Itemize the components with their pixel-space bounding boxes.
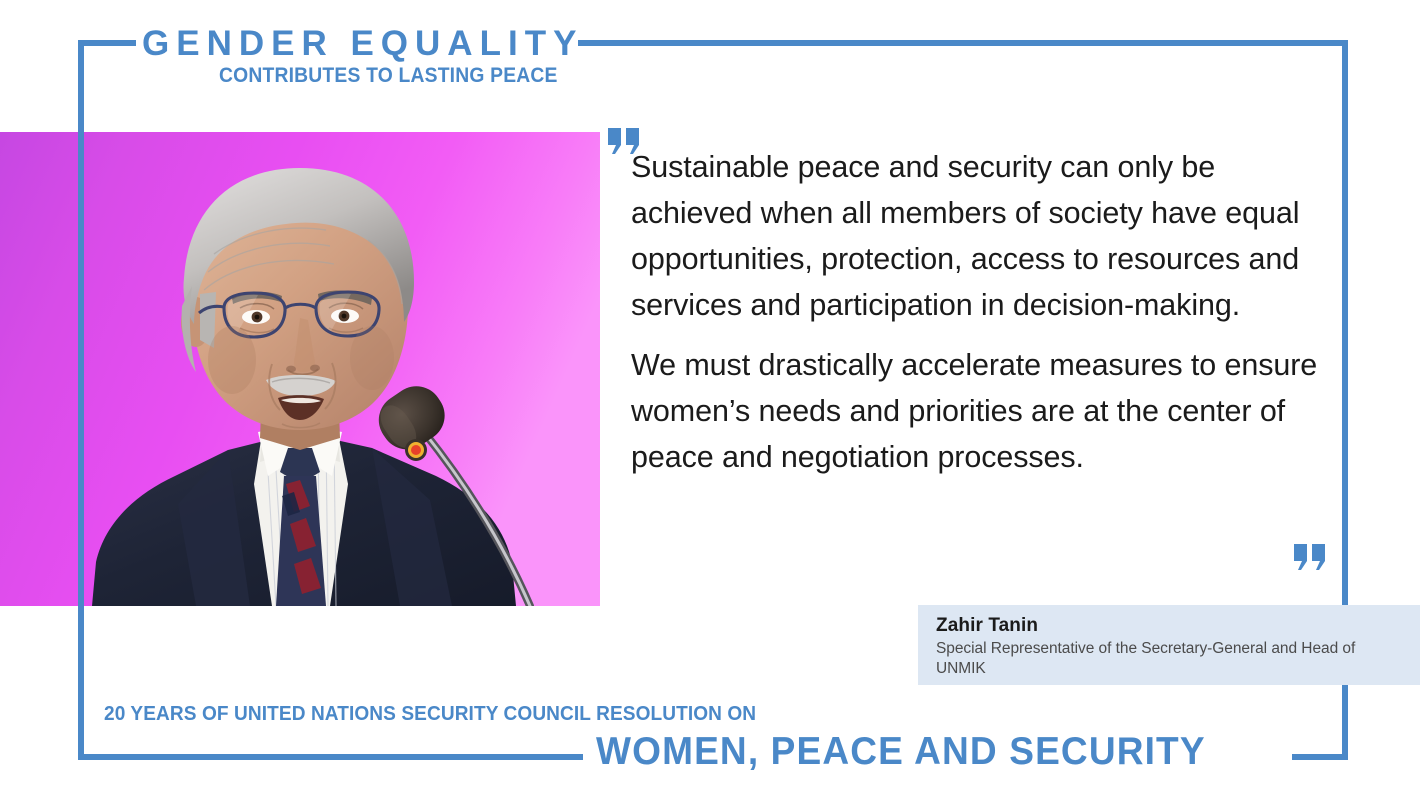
poster-canvas: GENDER EQUALITY CONTRIBUTES TO LASTING P…: [0, 0, 1420, 799]
quote-paragraph: Sustainable peace and security can only …: [631, 144, 1331, 328]
attribution-block: Zahir Tanin Special Representative of th…: [936, 613, 1356, 679]
quote-paragraph: We must drastically accelerate measures …: [631, 342, 1331, 480]
frame-bottom-right-segment: [1292, 754, 1348, 760]
page-subtitle: CONTRIBUTES TO LASTING PEACE: [219, 65, 558, 86]
quote-close-icon: [1294, 544, 1328, 570]
frame-bottom-left-segment: [78, 754, 583, 760]
speaker-role: Special Representative of the Secretary-…: [936, 639, 1356, 679]
footer-resolution-line: 20 YEARS OF UNITED NATIONS SECURITY COUN…: [104, 704, 756, 725]
footer-campaign-title: WOMEN, PEACE AND SECURITY: [596, 732, 1206, 771]
frame-left-border: [78, 40, 84, 760]
speaker-name: Zahir Tanin: [936, 613, 1356, 639]
quote-text-block: Sustainable peace and security can only …: [631, 144, 1331, 480]
speaker-photo: [0, 132, 600, 606]
page-title: GENDER EQUALITY: [142, 26, 583, 61]
frame-top-right-segment: [578, 40, 1348, 46]
frame-top-left-segment: [78, 40, 136, 46]
